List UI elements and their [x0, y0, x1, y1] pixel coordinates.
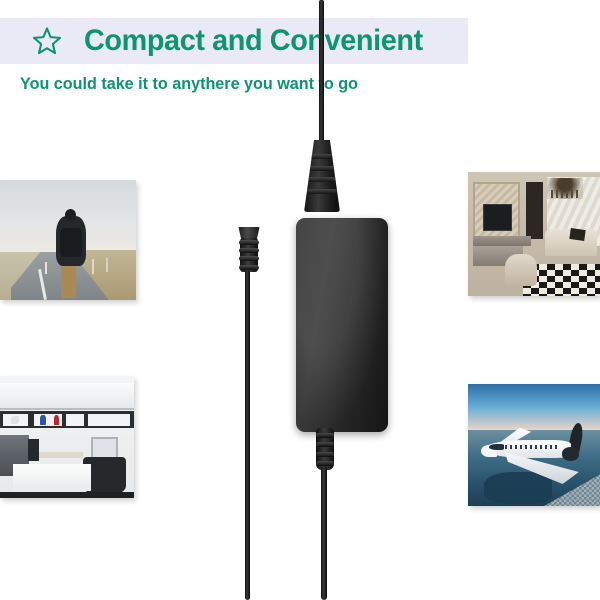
tv-console	[473, 236, 531, 246]
plug-rib	[239, 240, 259, 245]
relief-rib	[316, 461, 334, 466]
photo-airplane	[468, 384, 600, 506]
photo-office	[0, 376, 134, 498]
engine	[562, 447, 579, 460]
plug-rib	[239, 265, 259, 270]
relief-rib	[316, 442, 334, 447]
dc-plug-body	[240, 238, 258, 272]
shelf-cell	[66, 414, 85, 426]
ac-input-cord	[319, 0, 324, 146]
television	[483, 204, 513, 231]
cabin-windows	[500, 445, 561, 449]
page-title: Compact and Convenient	[84, 24, 423, 58]
dc-output-cord	[321, 466, 327, 600]
product-feature-banner: Compact and Convenient You could take it…	[0, 0, 600, 600]
chandelier	[547, 178, 583, 199]
ceiling-panel	[0, 383, 134, 409]
dc-strain-relief	[316, 428, 334, 470]
hiker-backpack	[60, 228, 82, 257]
relief-rib	[316, 433, 334, 438]
armchair	[505, 254, 537, 286]
roadside-post	[106, 258, 108, 272]
photo-livingroom	[468, 172, 600, 296]
plug-rib	[239, 256, 259, 261]
ac-connector	[304, 140, 340, 212]
dc-plug-cord	[245, 270, 250, 600]
connector-rib	[307, 166, 337, 171]
adapter-brick	[296, 218, 388, 432]
roadside-post	[92, 259, 94, 273]
relief-rib	[316, 452, 334, 457]
floor-strip	[0, 492, 134, 498]
shelf-object	[40, 415, 45, 425]
small-monitor	[28, 439, 39, 461]
hiker-legs	[61, 262, 76, 298]
coffee-table	[537, 246, 571, 263]
white-workstation	[13, 464, 91, 491]
shelf-cell	[88, 414, 130, 426]
connector-rib	[307, 189, 337, 194]
photo-hiker	[0, 180, 136, 300]
page-subtitle: You could take it to anythere you want t…	[20, 74, 358, 94]
header-band: Compact and Convenient	[0, 18, 468, 64]
bay-water	[484, 472, 553, 504]
cockpit-window	[489, 444, 504, 450]
throw-pillow	[569, 228, 585, 241]
wall-recess	[526, 182, 543, 239]
plug-rib	[239, 248, 259, 253]
connector-rib	[307, 177, 337, 182]
star-outline-icon	[32, 26, 62, 56]
shelf-object	[11, 416, 19, 423]
desktop-monitor	[91, 437, 118, 459]
shelf-object	[54, 415, 59, 425]
connector-rib	[307, 154, 337, 159]
roadside-post	[45, 262, 47, 274]
hiker-head	[65, 209, 76, 221]
